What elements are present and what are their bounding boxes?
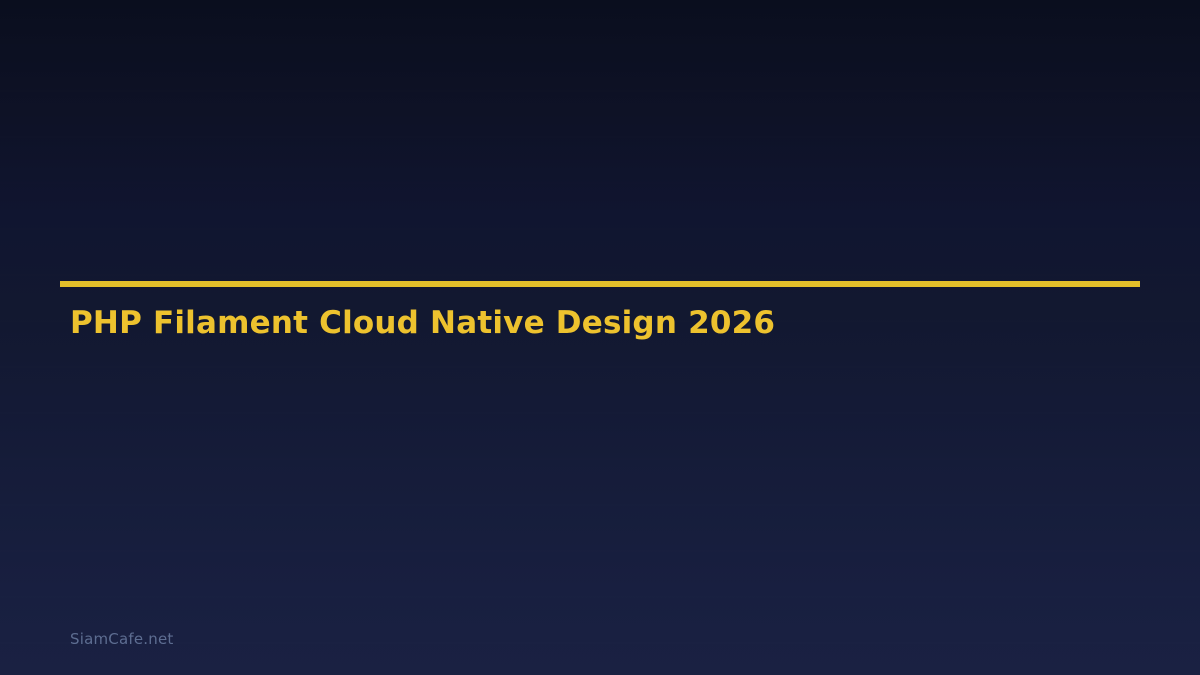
presentation-slide: PHP Filament Cloud Native Design 2026 Si… <box>0 0 1200 675</box>
accent-rule <box>60 281 1140 287</box>
footer-attribution: SiamCafe.net <box>70 630 173 648</box>
title-block: PHP Filament Cloud Native Design 2026 <box>60 281 1140 287</box>
slide-title: PHP Filament Cloud Native Design 2026 <box>60 307 775 340</box>
